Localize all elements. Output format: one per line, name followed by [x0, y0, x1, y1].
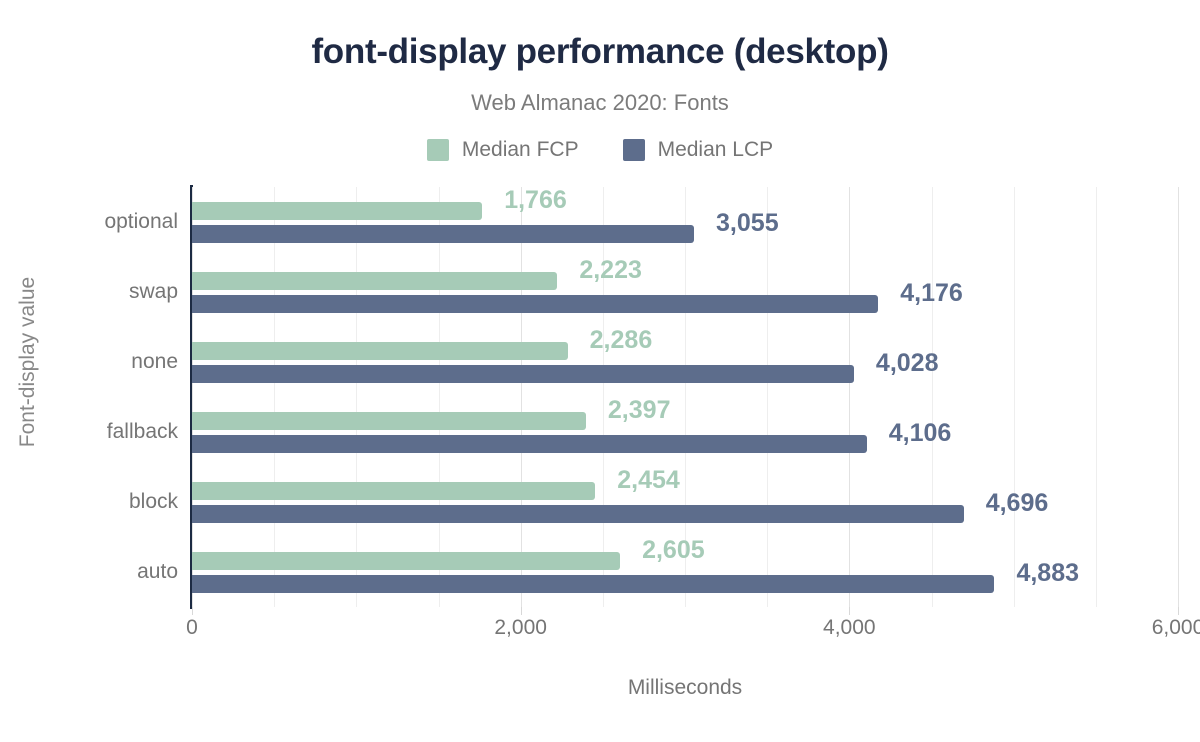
bar-value-label: 2,286 — [590, 326, 653, 354]
gridline — [1014, 187, 1015, 607]
bar-value-label: 4,176 — [900, 279, 963, 307]
gridline — [767, 187, 768, 607]
gridline — [521, 187, 522, 607]
bar-value-label: 4,696 — [986, 489, 1049, 517]
bar-fallback-fcp[interactable] — [192, 412, 586, 430]
x-tick-mark — [192, 607, 193, 615]
bar-block-fcp[interactable] — [192, 482, 595, 500]
bar-auto-fcp[interactable] — [192, 552, 620, 570]
bar-value-label: 1,766 — [504, 186, 567, 214]
gridline — [192, 187, 193, 607]
y-axis-label-auto: auto — [8, 560, 178, 584]
bar-swap-lcp[interactable] — [192, 295, 878, 313]
x-tick-mark — [1178, 607, 1179, 615]
x-tick-label: 4,000 — [823, 616, 876, 640]
bar-value-label: 4,028 — [876, 349, 939, 377]
legend-item-median-lcp[interactable]: Median LCP — [623, 138, 774, 162]
bar-value-label: 4,883 — [1016, 559, 1079, 587]
y-axis-label-optional: optional — [8, 210, 178, 234]
x-tick-label: 0 — [186, 616, 198, 640]
bar-block-lcp[interactable] — [192, 505, 964, 523]
chart-container: font-display performance (desktop) Web A… — [0, 0, 1200, 742]
legend-label-median-fcp: Median FCP — [462, 138, 579, 162]
y-axis-title: Font-display value — [16, 272, 40, 452]
gridline — [1096, 187, 1097, 607]
bar-value-label: 2,454 — [617, 466, 680, 494]
bar-optional-lcp[interactable] — [192, 225, 694, 243]
bar-value-label: 3,055 — [716, 209, 779, 237]
gridline — [439, 187, 440, 607]
x-tick-mark — [849, 607, 850, 615]
gridline — [1178, 187, 1179, 607]
bar-value-label: 4,106 — [889, 419, 952, 447]
y-axis-label-block: block — [8, 490, 178, 514]
chart-legend: Median FCP Median LCP — [0, 138, 1200, 162]
bar-auto-lcp[interactable] — [192, 575, 994, 593]
gridline — [603, 187, 604, 607]
gridline — [356, 187, 357, 607]
x-tick-label: 2,000 — [494, 616, 547, 640]
gridline — [274, 187, 275, 607]
bar-fallback-lcp[interactable] — [192, 435, 867, 453]
legend-swatch-icon — [623, 139, 645, 161]
bar-optional-fcp[interactable] — [192, 202, 482, 220]
gridline — [849, 187, 850, 607]
chart-subtitle: Web Almanac 2020: Fonts — [0, 88, 1200, 118]
x-axis-title: Milliseconds — [192, 676, 1178, 700]
x-tick-label: 6,000 — [1152, 616, 1200, 640]
bar-none-lcp[interactable] — [192, 365, 854, 383]
chart-title: font-display performance (desktop) — [0, 30, 1200, 74]
bar-value-label: 2,223 — [579, 256, 642, 284]
bar-value-label: 2,397 — [608, 396, 671, 424]
bar-swap-fcp[interactable] — [192, 272, 557, 290]
bar-none-fcp[interactable] — [192, 342, 568, 360]
legend-item-median-fcp[interactable]: Median FCP — [427, 138, 579, 162]
gridline — [932, 187, 933, 607]
plot-area: 1,7663,0552,2234,1762,2864,0282,3974,106… — [192, 187, 1178, 607]
x-tick-mark — [521, 607, 522, 615]
legend-swatch-icon — [427, 139, 449, 161]
bar-value-label: 2,605 — [642, 536, 705, 564]
legend-label-median-lcp: Median LCP — [658, 138, 774, 162]
